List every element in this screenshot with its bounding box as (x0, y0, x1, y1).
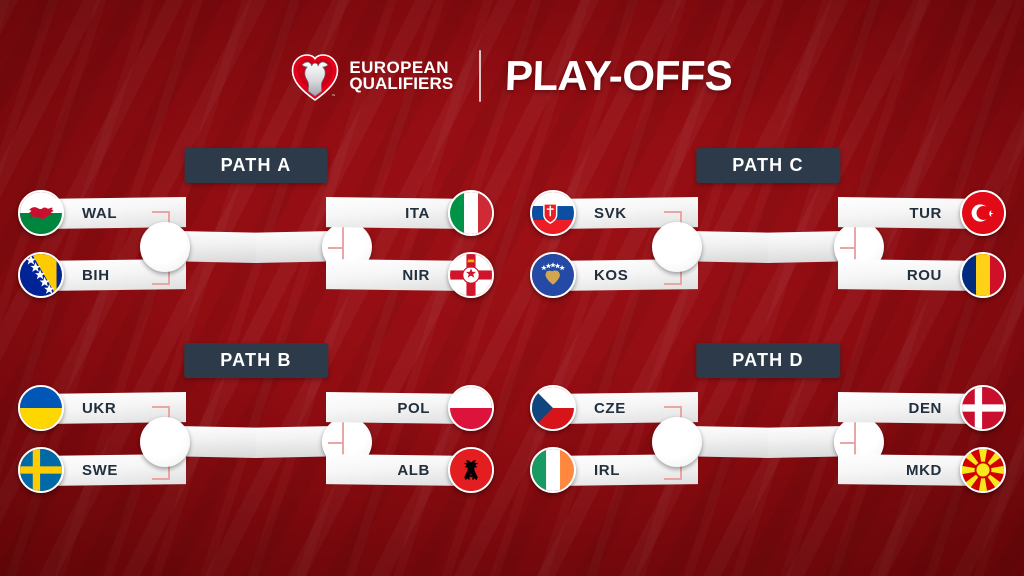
connector-line-top (664, 211, 682, 213)
slot-flag-placeholder (140, 417, 190, 467)
logo-line-2: QUALIFIERS (349, 76, 453, 92)
sweden-flag-icon (18, 447, 64, 493)
team-row[interactable]: TUR (876, 190, 1006, 236)
header: ™ EUROPEAN QUALIFIERS PLAY-OFFS (0, 44, 1024, 108)
path-c-title: PATH C (696, 148, 840, 183)
uefa-heart-logo-icon: ™ (291, 51, 339, 101)
turkey-flag-icon (960, 190, 1006, 236)
final-slot-left[interactable] (652, 219, 768, 275)
ireland-flag-icon (530, 447, 576, 493)
team-row[interactable]: CZE (530, 385, 660, 431)
team-row[interactable]: IRL (530, 447, 660, 493)
connector-line-bottom (152, 283, 170, 285)
path-d: PATH D CZE IRL (512, 343, 1024, 543)
slot-flag-placeholder (140, 222, 190, 272)
slovakia-flag-icon (530, 190, 576, 236)
final-slot-left[interactable] (652, 414, 768, 470)
path-d-title: PATH D (696, 343, 840, 378)
connector-line-top (152, 211, 170, 213)
connector-line-bottom (664, 478, 682, 480)
italy-flag-icon (448, 190, 494, 236)
team-row[interactable]: UKR (18, 385, 148, 431)
denmark-flag-icon (960, 385, 1006, 431)
path-a-semifinal-right: ITA NIR (364, 190, 494, 298)
path-b-semifinal-left: UKR SWE (18, 385, 148, 493)
path-d-semifinal-right: DEN (876, 385, 1006, 493)
team-row[interactable]: POL (364, 385, 494, 431)
page-title: PLAY-OFFS (504, 52, 733, 100)
path-d-semifinal-left: CZE IRL (530, 385, 660, 493)
poland-flag-icon (448, 385, 494, 431)
team-row[interactable]: MKD (876, 447, 1006, 493)
slot-flag-placeholder (652, 222, 702, 272)
team-row[interactable]: ROU (876, 252, 1006, 298)
northern-ireland-flag-icon (448, 252, 494, 298)
wales-flag-icon (18, 190, 64, 236)
team-row[interactable]: ALB (364, 447, 494, 493)
slot-flag-placeholder (652, 417, 702, 467)
team-code: NIR (326, 259, 468, 291)
albania-flag-icon (448, 447, 494, 493)
european-qualifiers-logo: ™ EUROPEAN QUALIFIERS (291, 51, 453, 101)
path-a-title: PATH A (185, 148, 328, 183)
connector-line-top (152, 406, 170, 408)
path-c: PATH C SVK (512, 148, 1024, 348)
path-c-semifinal-right: TUR ROU (876, 190, 1006, 298)
czechia-flag-icon (530, 385, 576, 431)
connector-line-bottom (152, 478, 170, 480)
team-row[interactable]: ITA (364, 190, 494, 236)
connector-line-bottom (664, 283, 682, 285)
team-code: ITA (326, 197, 468, 229)
path-b-semifinal-right: POL ALB (364, 385, 494, 493)
connector-line-mid (328, 247, 344, 249)
team-code: DEN (838, 392, 980, 424)
team-code: MKD (838, 454, 980, 486)
team-code: ROU (838, 259, 980, 291)
connector-line-mid (840, 442, 856, 444)
header-divider (479, 50, 481, 102)
team-row[interactable]: BIH (18, 252, 148, 298)
team-code: ALB (326, 454, 468, 486)
team-code: POL (326, 392, 468, 424)
team-row[interactable]: SVK (530, 190, 660, 236)
bosnia-flag-icon (18, 252, 64, 298)
team-code: TUR (838, 197, 980, 229)
path-a: PATH A WAL (0, 148, 512, 348)
svg-text:™: ™ (331, 94, 336, 100)
final-slot-left[interactable] (140, 414, 256, 470)
romania-flag-icon (960, 252, 1006, 298)
team-row[interactable]: DEN (876, 385, 1006, 431)
path-a-semifinal-left: WAL BIH (18, 190, 148, 298)
north-macedonia-flag-icon (960, 447, 1006, 493)
team-row[interactable]: KOS (530, 252, 660, 298)
path-c-semifinal-left: SVK KOS (530, 190, 660, 298)
path-b: PATH B UKR SWE (0, 343, 512, 543)
connector-line-mid (840, 247, 856, 249)
kosovo-flag-icon (530, 252, 576, 298)
team-row[interactable]: SWE (18, 447, 148, 493)
path-b-title: PATH B (184, 343, 328, 378)
connector-line-mid (328, 442, 344, 444)
ukraine-flag-icon (18, 385, 64, 431)
team-row[interactable]: WAL (18, 190, 148, 236)
final-slot-left[interactable] (140, 219, 256, 275)
team-row[interactable]: NIR (364, 252, 494, 298)
connector-line-top (664, 406, 682, 408)
